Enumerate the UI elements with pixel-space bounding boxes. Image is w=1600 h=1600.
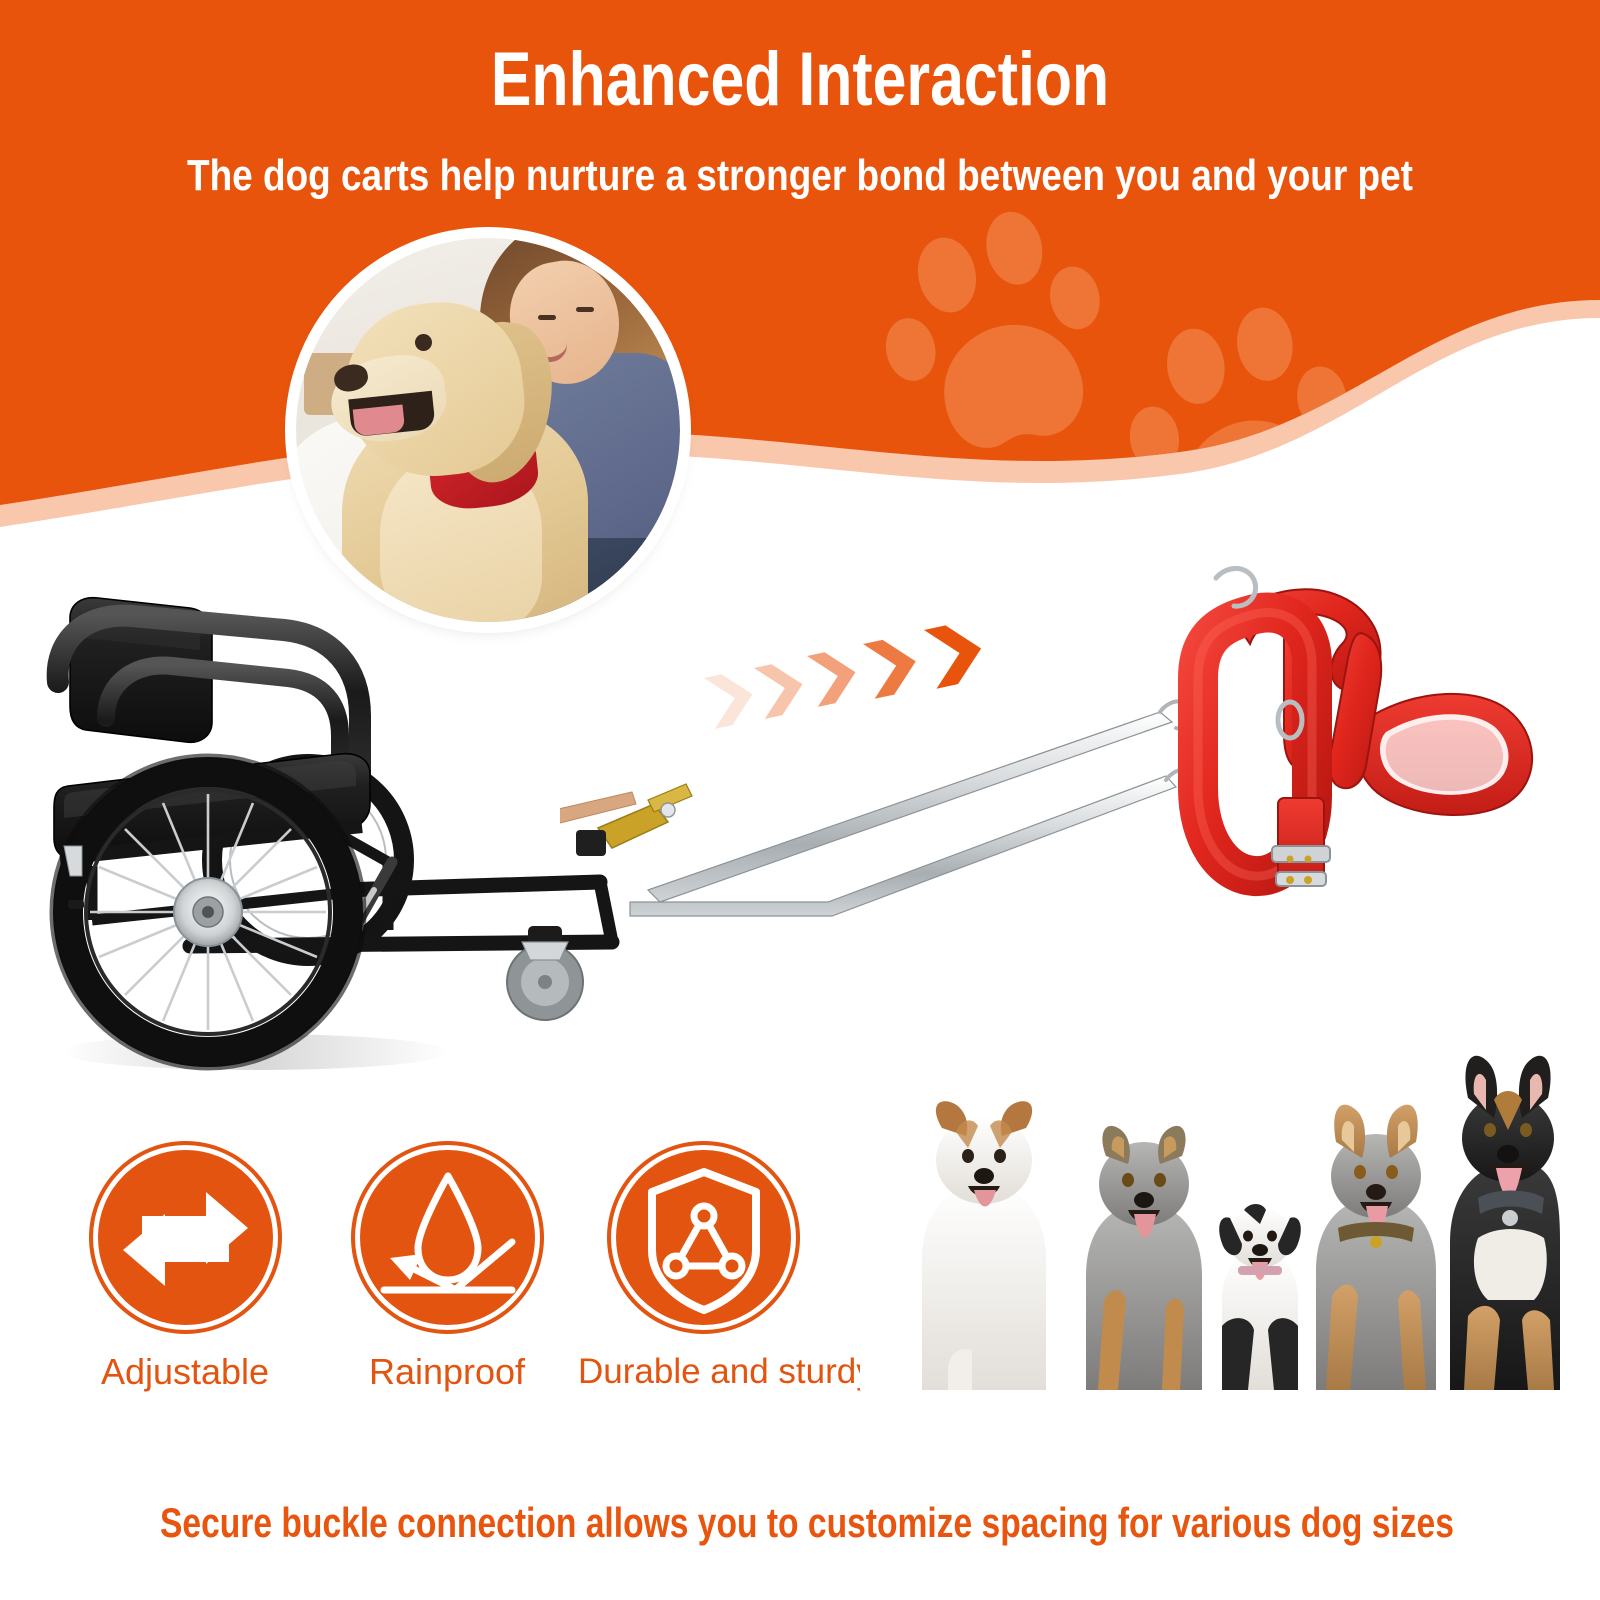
dog-1: [922, 1101, 1046, 1390]
dog-harness-product-image: [1150, 560, 1550, 940]
dog-3: [1219, 1204, 1301, 1390]
harness-buckle: [1272, 798, 1330, 886]
hero-photo-circle: [296, 238, 680, 622]
photo-dog-tongue: [352, 404, 404, 436]
motion-arrows-graphic: [700, 620, 1020, 750]
chevron-arrow-icon: [754, 659, 808, 719]
footer-caption: Secure buckle connection allows you to c…: [160, 1498, 1440, 1548]
two-way-arrow-icon: [98, 1150, 273, 1325]
feature-label: Rainproof: [322, 1351, 572, 1393]
feature-adjustable[interactable]: Adjustable: [60, 1150, 310, 1393]
feature-label: Adjustable: [60, 1351, 310, 1393]
dogs-group-photo: [860, 970, 1560, 1390]
dog-cart-product-image: [40, 590, 680, 1090]
infographic-canvas: Enhanced Interaction The dog carts help …: [0, 0, 1600, 1600]
photo-dog-eye: [415, 334, 432, 351]
chevron-arrow-icon: [807, 647, 861, 707]
hero-photo-image: [296, 238, 680, 622]
feature-rainproof[interactable]: Rainproof: [322, 1150, 572, 1393]
chevron-arrow-icon: [704, 669, 758, 729]
page-title: Enhanced Interaction: [160, 38, 1440, 122]
cart-main-wheel: [52, 756, 364, 1068]
chevron-arrow-icon: [924, 620, 987, 689]
water-droplet-repel-icon: [360, 1150, 535, 1325]
photo-woman-eye: [576, 307, 594, 312]
chevron-arrow-icon: [863, 634, 922, 699]
feature-label: Durable and sturdy: [578, 1351, 828, 1393]
shield-triangle-icon: [616, 1150, 791, 1325]
photo-woman-eye: [538, 315, 556, 320]
page-subtitle: The dog carts help nurture a stronger bo…: [128, 150, 1472, 202]
feature-icon-row: Adjustable Rainproof: [60, 1150, 860, 1440]
feature-durable[interactable]: Durable and sturdy: [578, 1150, 828, 1393]
tow-bar-lower: [630, 776, 1176, 916]
